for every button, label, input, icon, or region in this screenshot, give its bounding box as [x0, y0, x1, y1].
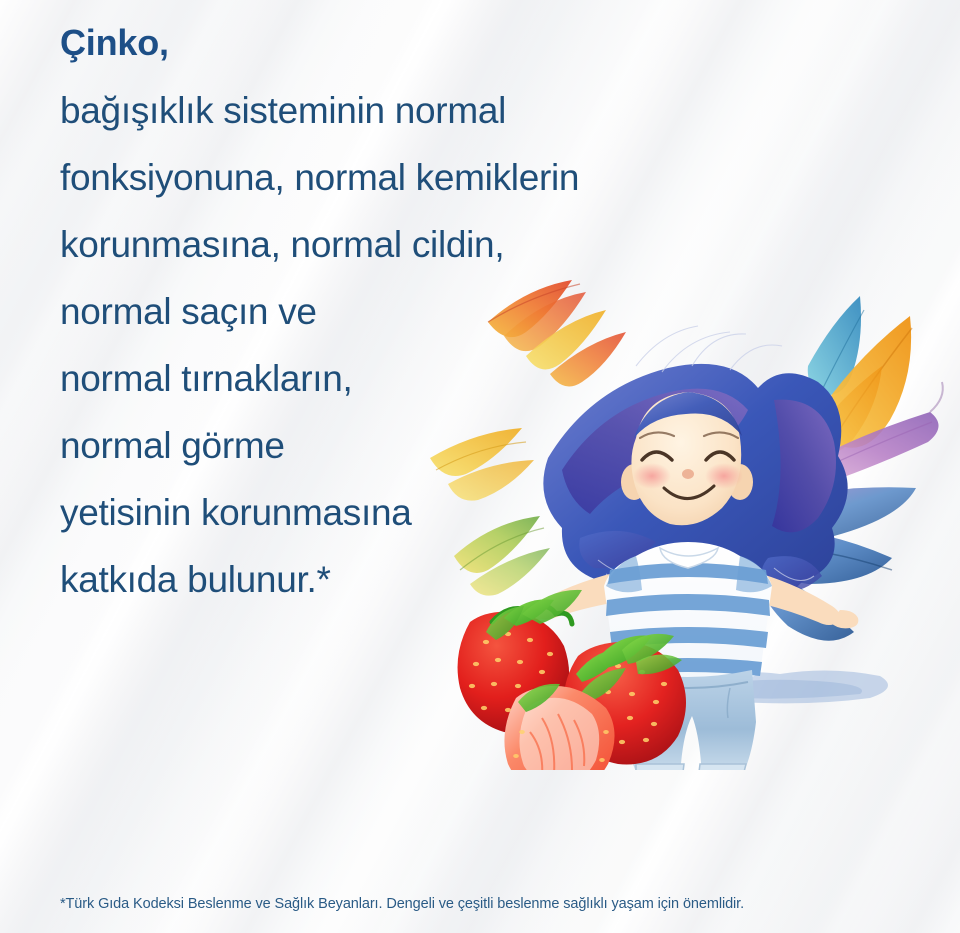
body-line: yetisinin korunmasına: [60, 479, 790, 546]
legal-footnote: *Türk Gıda Kodeksi Beslenme ve Sağlık Be…: [60, 896, 744, 912]
body-line: normal tırnakların,: [60, 345, 790, 412]
body-line: normal görme: [60, 412, 790, 479]
body-line: fonksiyonuna, normal kemiklerin: [60, 144, 790, 211]
body-line: normal saçın ve: [60, 278, 790, 345]
copy-block: Çinko, bağışıklık sisteminin normal fonk…: [60, 22, 790, 613]
body-line: katkıda bulunur.*: [60, 546, 790, 613]
body-line: bağışıklık sisteminin normal: [60, 77, 790, 144]
body-line: korunmasına, normal cildin,: [60, 211, 790, 278]
page-title: Çinko,: [60, 22, 790, 63]
promo-banner: Çinko, bağışıklık sisteminin normal fonk…: [0, 0, 960, 933]
body-copy: bağışıklık sisteminin normal fonksiyonun…: [60, 77, 790, 613]
